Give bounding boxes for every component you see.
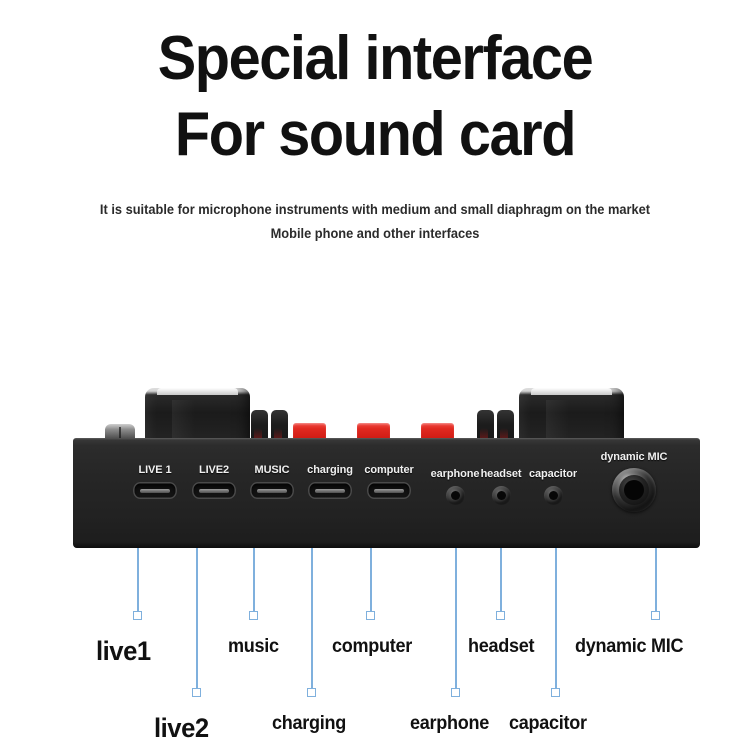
callout-live2: live2	[154, 713, 209, 744]
port-label: dynamic MIC	[579, 451, 689, 463]
micro-usb-icon[interactable]	[250, 482, 294, 499]
leader-line-music	[253, 548, 255, 611]
leader-line-live2	[196, 548, 198, 688]
callout-charging: charging	[272, 713, 346, 735]
audio-jack-icon[interactable]	[544, 486, 563, 505]
leader-marker-live1	[133, 611, 142, 620]
micro-usb-icon[interactable]	[367, 482, 411, 499]
subtitle-line-2: Mobile phone and other interfaces	[19, 222, 732, 246]
port-capacitor[interactable]: capacitor	[520, 468, 586, 505]
device-faceplate: LIVE 1 LIVE2 MUSIC charging computer ear…	[73, 438, 700, 548]
leader-line-charging	[311, 548, 313, 688]
port-computer[interactable]: computer	[349, 464, 429, 499]
callout-music: music	[228, 636, 279, 658]
leader-line-computer	[370, 548, 372, 611]
leader-marker-earphone	[451, 688, 460, 697]
audio-jack-icon[interactable]	[492, 486, 511, 505]
page-title-line-1: Special interface	[26, 22, 724, 96]
port-label: computer	[349, 464, 429, 476]
xlr-jack-icon[interactable]	[612, 468, 656, 512]
page-title-line-2: For sound card	[26, 98, 724, 172]
header-block: Special interface For sound card It is s…	[0, 0, 750, 246]
callout-computer: computer	[332, 636, 412, 658]
subtitle-line-1: It is suitable for microphone instrument…	[19, 198, 732, 222]
leader-marker-dynamic-mic	[651, 611, 660, 620]
leader-line-capacitor	[555, 548, 557, 688]
leader-marker-capacitor	[551, 688, 560, 697]
leader-marker-headset	[496, 611, 505, 620]
sound-card-device: LIVE 1 LIVE2 MUSIC charging computer ear…	[73, 378, 700, 548]
leader-marker-music	[249, 611, 258, 620]
callout-capacitor: capacitor	[509, 713, 587, 735]
port-dynamic-mic[interactable]: dynamic MIC	[579, 451, 689, 512]
screw-icon	[105, 424, 135, 439]
leader-marker-charging	[307, 688, 316, 697]
port-label: capacitor	[520, 468, 586, 480]
leader-line-earphone	[455, 548, 457, 688]
micro-usb-icon[interactable]	[192, 482, 236, 499]
leader-marker-computer	[366, 611, 375, 620]
callout-live1: live1	[96, 636, 151, 667]
callout-earphone: earphone	[410, 713, 489, 735]
leader-line-live1	[137, 548, 139, 611]
leader-line-dynamic-mic	[655, 548, 657, 611]
leader-line-headset	[500, 548, 502, 611]
callout-dynamic-mic: dynamic MIC	[575, 636, 683, 658]
micro-usb-icon[interactable]	[308, 482, 352, 499]
audio-jack-icon[interactable]	[446, 486, 465, 505]
micro-usb-icon[interactable]	[133, 482, 177, 499]
leader-marker-live2	[192, 688, 201, 697]
callout-headset: headset	[468, 636, 534, 658]
